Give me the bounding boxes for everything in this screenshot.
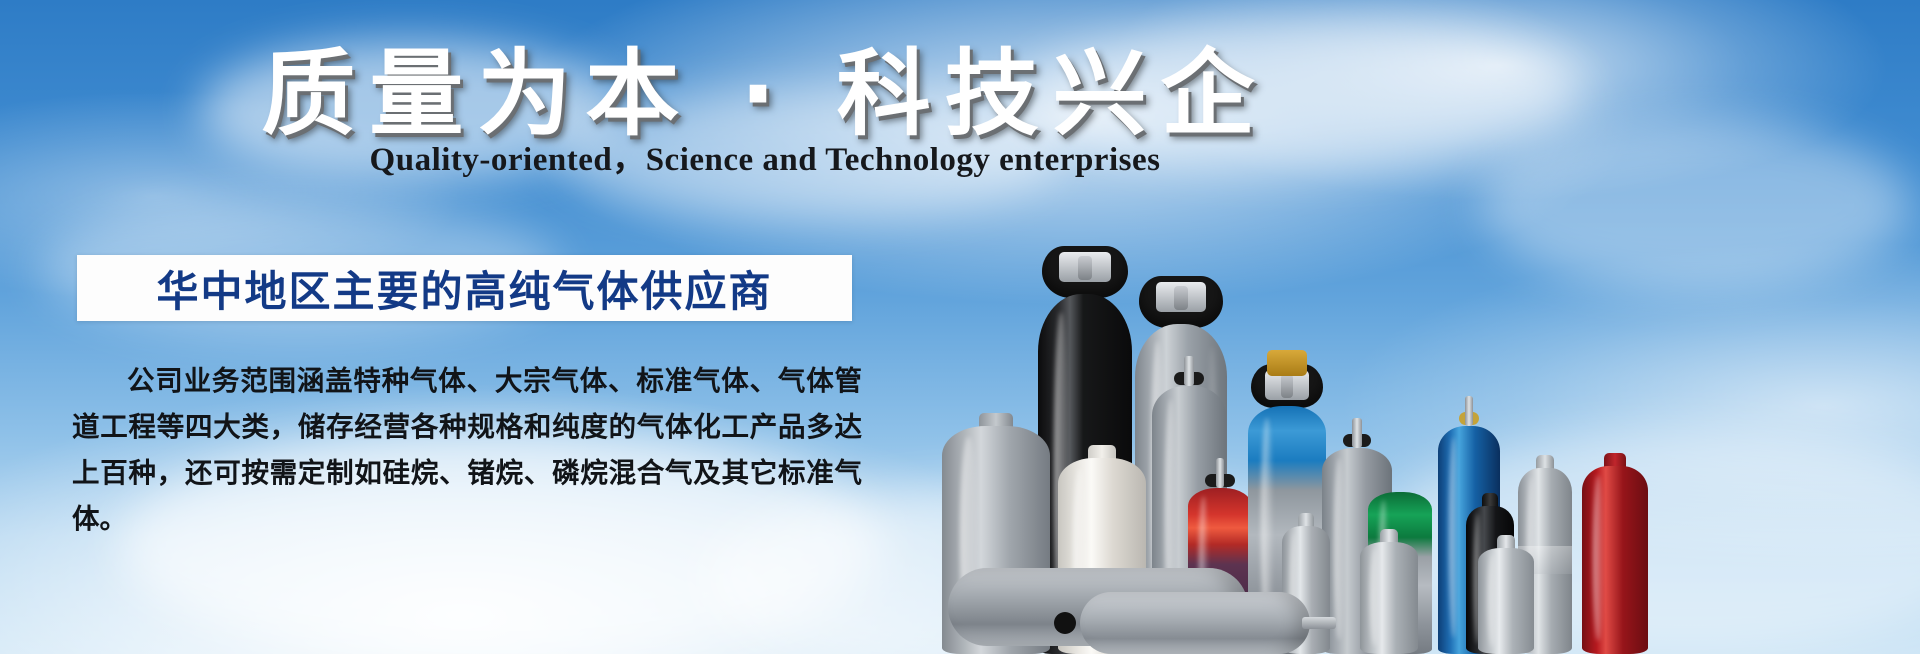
banner-subtitle: Quality-oriented，Science and Technology … — [0, 132, 1530, 180]
slogan-text: 华中地区主要的高纯气体供应商 — [156, 258, 772, 319]
highlight — [1334, 458, 1345, 639]
cylinder-valve — [1465, 396, 1474, 426]
promo-banner: 质量为本 · 科技兴企 Quality-oriented，Science and… — [0, 0, 1920, 654]
aluminium-squat-bottle — [1360, 542, 1418, 654]
cylinder-valve-guard — [1139, 276, 1224, 328]
cylinder-valve — [1352, 418, 1362, 448]
highlight — [1593, 475, 1603, 640]
aluminium-small-bottle — [1478, 548, 1534, 654]
banner-body-copy: 公司业务范围涵盖特种气体、大宗气体、标准气体、气体管道工程等四大类，储存经营各种… — [72, 358, 862, 542]
highlight — [1449, 437, 1458, 638]
cylinder-valve — [1184, 356, 1194, 386]
tank-valve — [1302, 617, 1336, 629]
highlight — [1370, 548, 1379, 647]
slogan-highlight-box: 华中地区主要的高纯气体供应商 — [77, 255, 852, 321]
cylinder-valve — [1216, 458, 1225, 488]
red-aluminium-cylinder — [1582, 466, 1648, 654]
cylinder-valve-guard — [1042, 246, 1128, 298]
brass-valve — [1267, 350, 1308, 376]
tank-knob — [1054, 612, 1076, 634]
horizontal-small-tank — [1080, 592, 1310, 654]
highlight — [1488, 553, 1496, 646]
